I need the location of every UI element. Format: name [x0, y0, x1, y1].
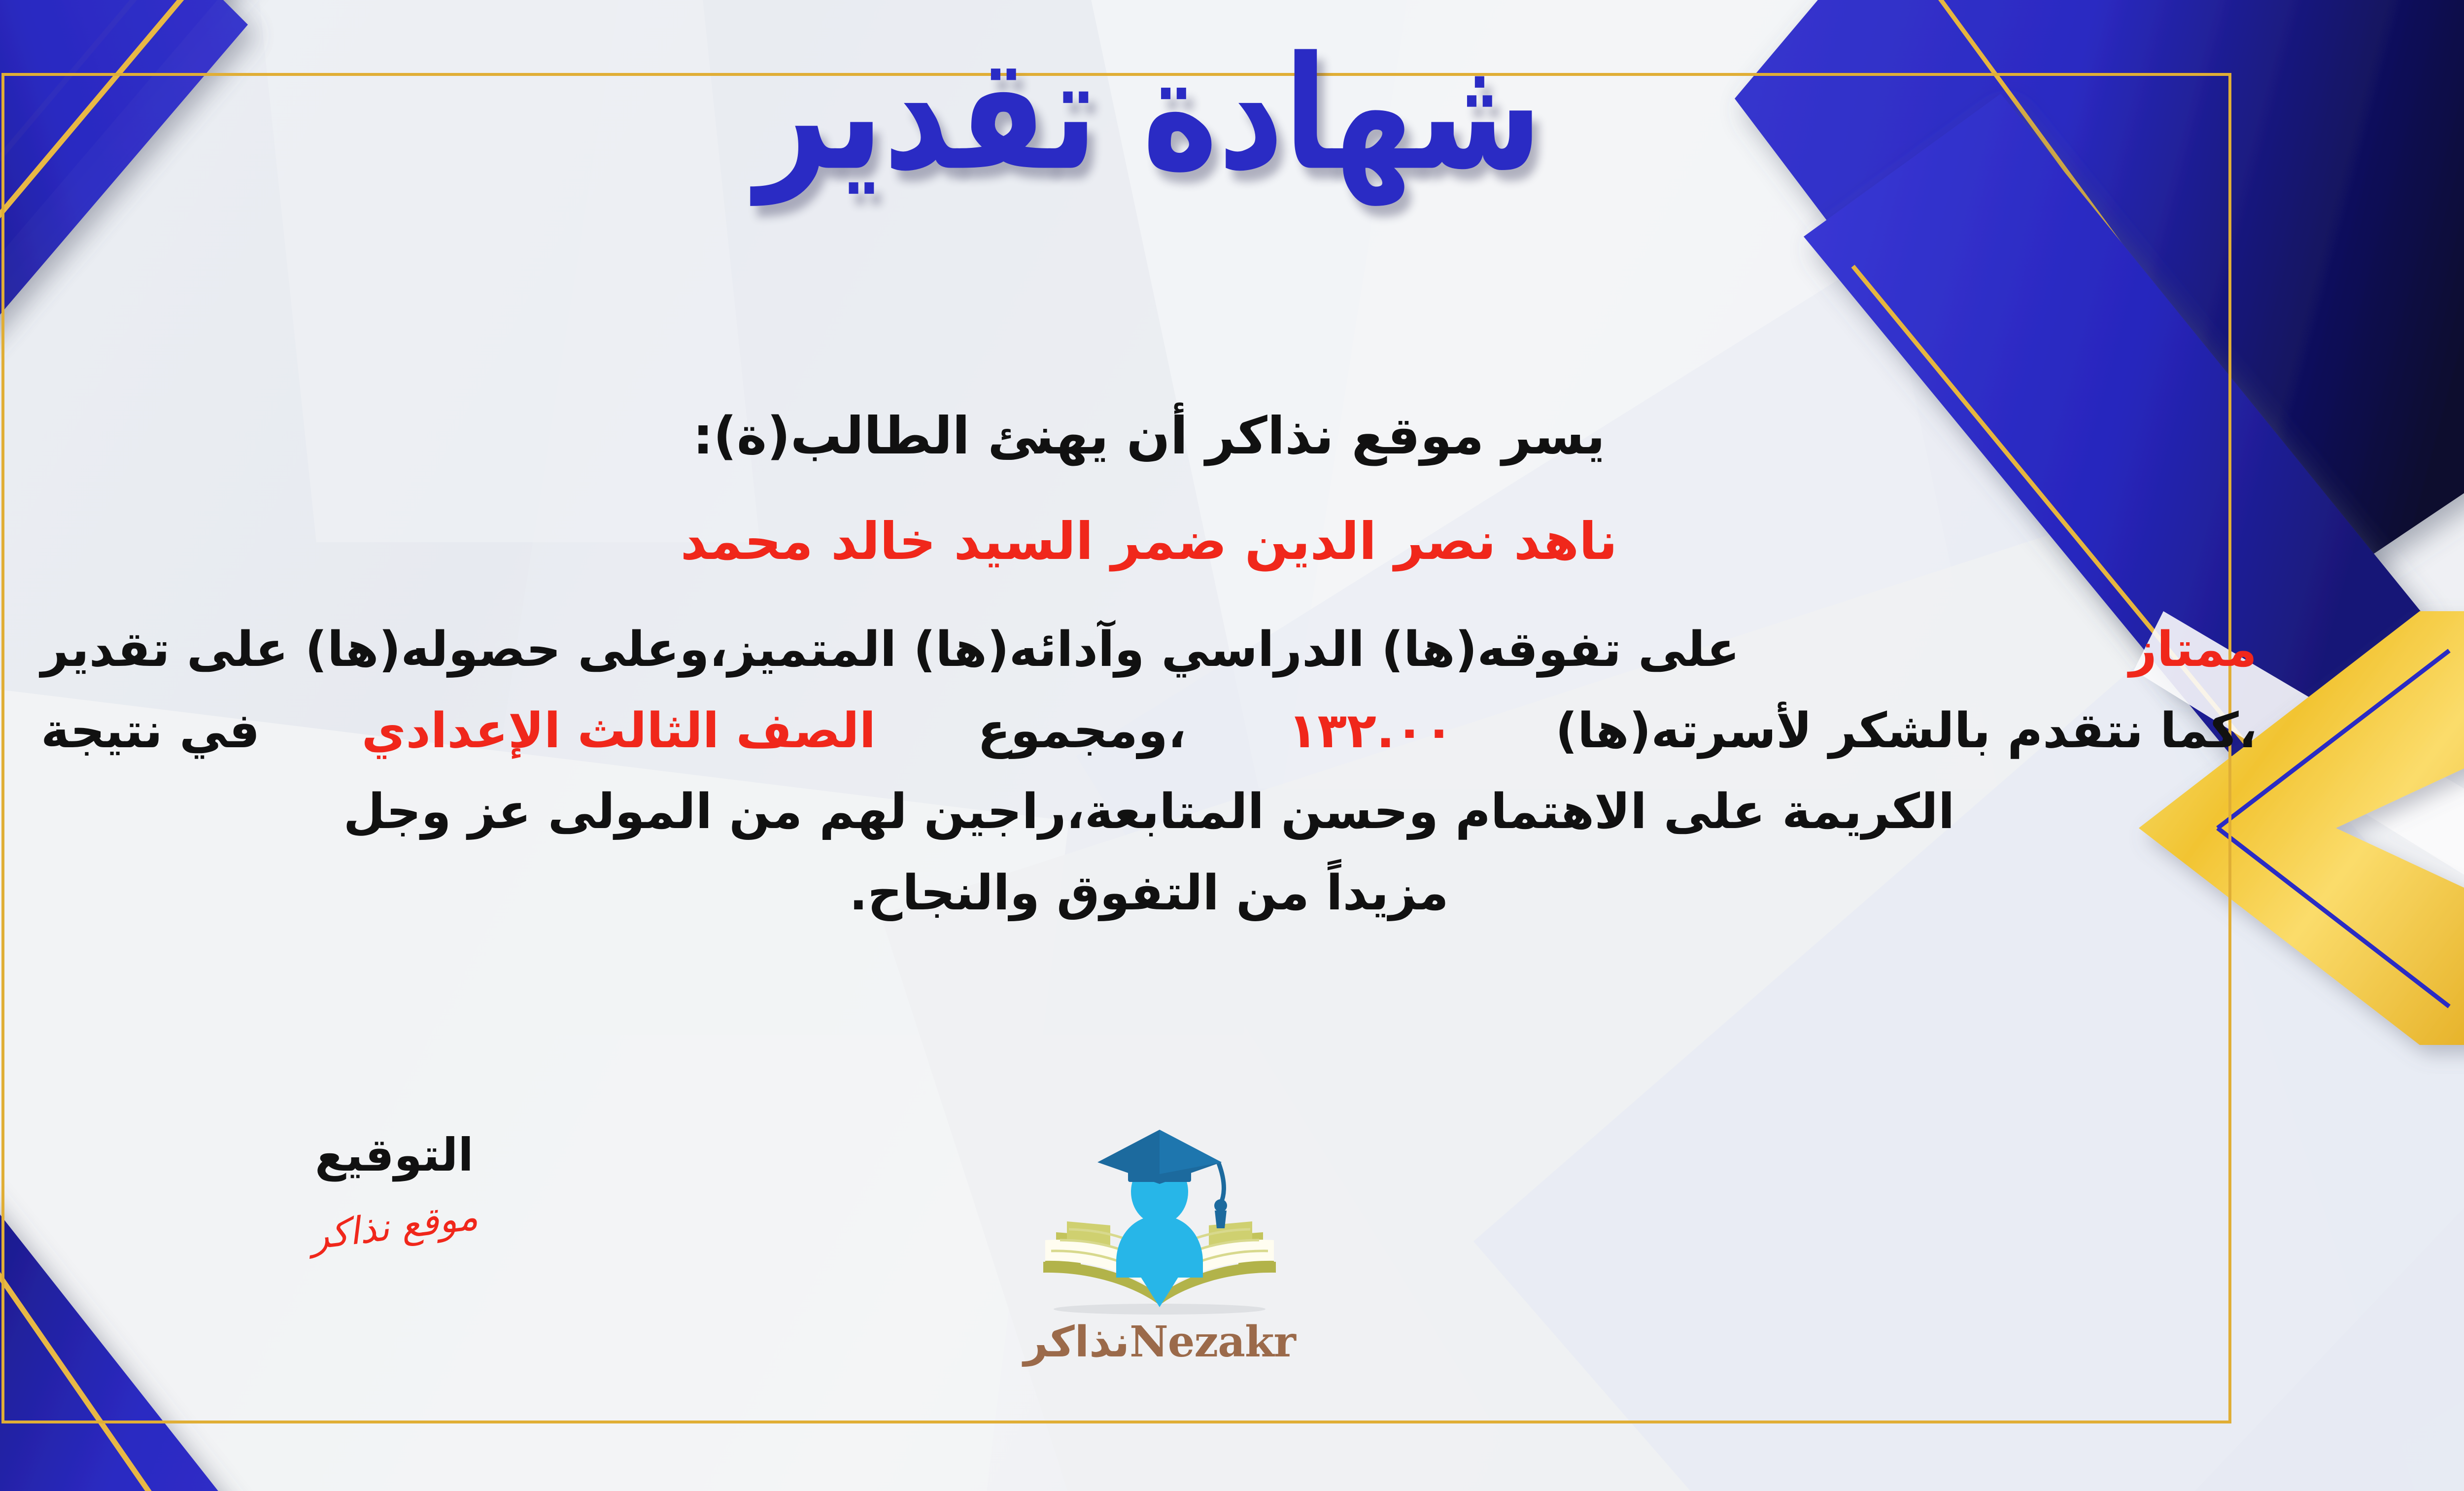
logo-name-en: Nezakr: [1129, 1317, 1296, 1367]
class-name: الصف الثالث الإعدادي: [362, 692, 876, 770]
graduate-book-logo-icon: [1022, 1119, 1298, 1316]
result-line: ،كما نتقدم بالشكر لأسرته(ها) ١٣٢.٠٠ ،ومج…: [41, 692, 2257, 770]
result-prefix: في نتيجة: [41, 692, 260, 770]
closing-line: مزيداً من التفوق والنجاح.: [41, 854, 2257, 933]
nezakr-logo: Nezakrنذاكر: [982, 1119, 1337, 1367]
gratitude-line: الكريمة على الاهتمام وحسن المتابعة،راجين…: [41, 773, 2257, 851]
student-name: ناهد نصر الدين ضمر السيد خالد محمد: [41, 500, 2257, 583]
grade-value: ممتاز: [2129, 611, 2257, 689]
achievement-text: على تفوقه(ها) الدراسي وآدائه(ها) المتميز…: [41, 611, 1740, 689]
page-title: شهادة تقدير: [755, 17, 1542, 212]
thanks-prefix: ،كما نتقدم بالشكر لأسرته(ها): [1555, 692, 2257, 770]
certificate-title-wrap: شهادة تقدير: [0, 35, 2464, 195]
signature-label: التوقيع: [237, 1129, 552, 1181]
signature-block: التوقيع موقع نذاكر: [237, 1129, 552, 1248]
achievement-line: ممتاز على تفوقه(ها) الدراسي وآدائه(ها) ا…: [41, 611, 2257, 689]
certificate-body: يسر موقع نذاكر أن يهنئ الطالب(ة): ناهد ن…: [41, 394, 2257, 936]
logo-wordmark: Nezakrنذاكر: [982, 1317, 1337, 1367]
intro-line: يسر موقع نذاكر أن يهنئ الطالب(ة):: [41, 394, 2257, 477]
logo-name-ar: نذاكر: [1024, 1318, 1129, 1367]
total-score: ١٣٢.٠٠: [1288, 692, 1454, 770]
total-label: ،ومجموع: [978, 692, 1187, 770]
certificate-canvas: شهادة تقدير يسر موقع نذاكر أن يهنئ الطال…: [0, 0, 2464, 1491]
